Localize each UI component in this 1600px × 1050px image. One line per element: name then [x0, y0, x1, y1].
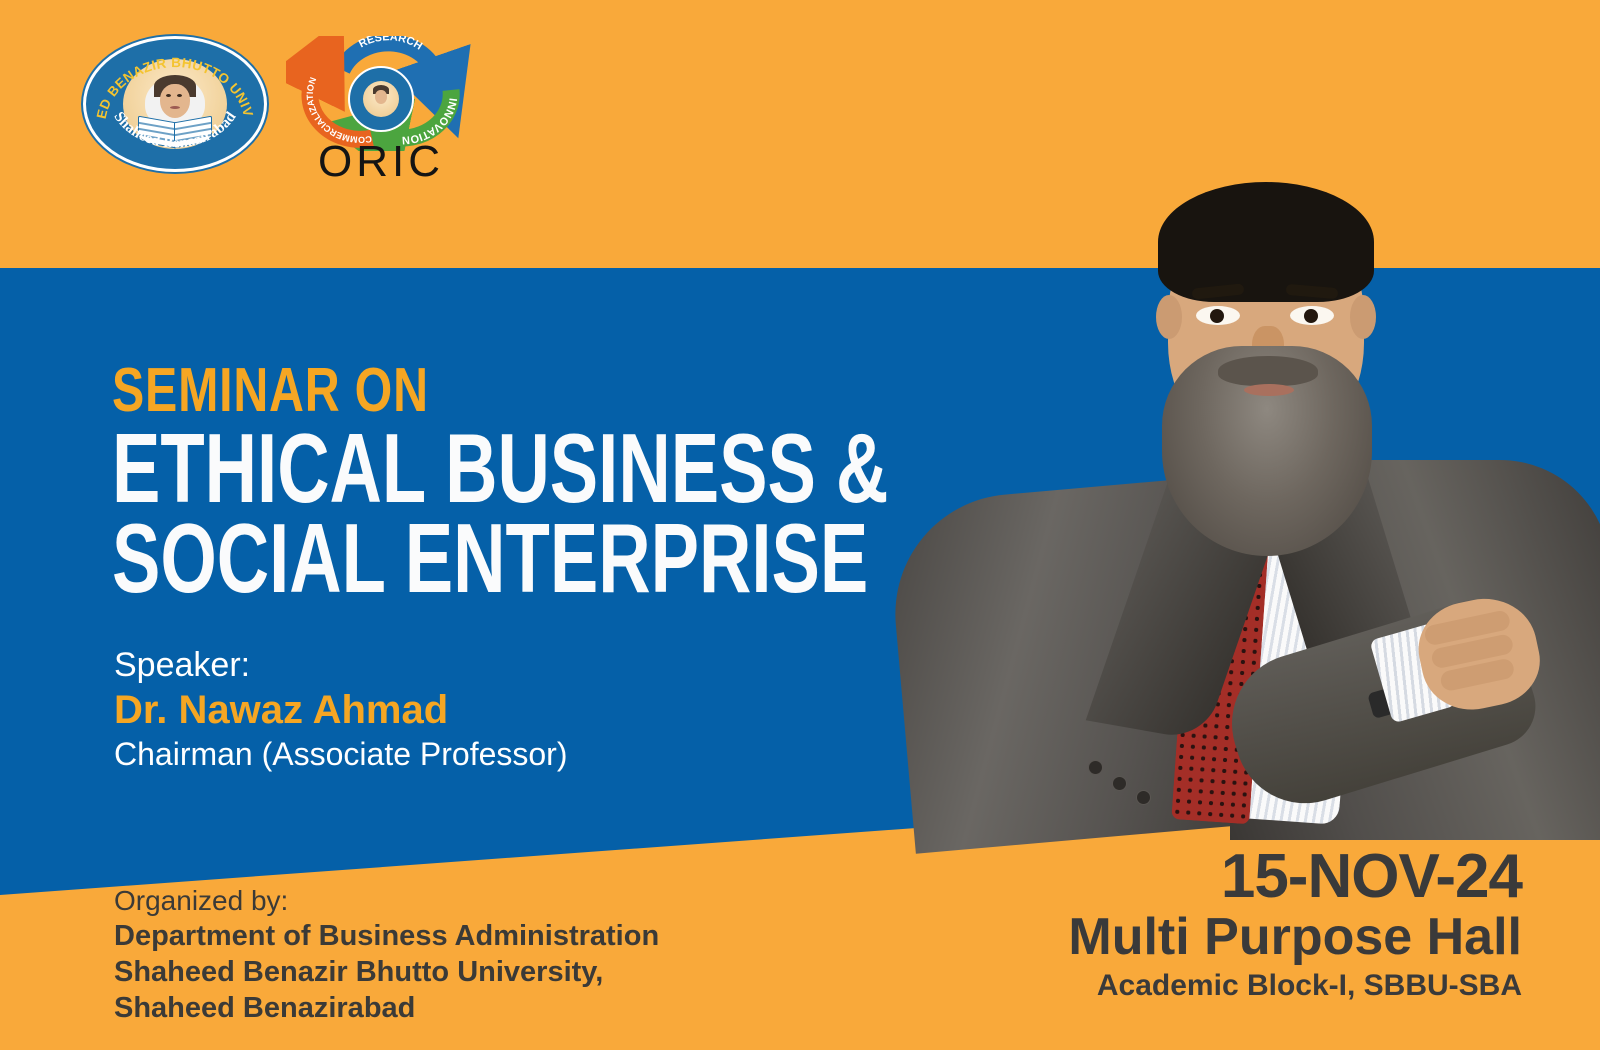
seminar-title-line-1: ETHICAL BUSINESS &: [112, 423, 888, 513]
speaker-label: Speaker:: [114, 645, 567, 685]
seminar-title-line-2: SOCIAL ENTERPRISE: [112, 513, 888, 603]
organizer-line-3: Shaheed Benazirabad: [114, 991, 659, 1027]
oric-logo: RESEARCH INNOVATION COMMERCIALIZATION: [286, 36, 476, 181]
speaker-name: Dr. Nawaz Ahmad: [114, 687, 567, 734]
seal-arc-bottom-text: Shaheed Benazirabad: [110, 109, 239, 152]
event-date: 15-NOV-24: [1068, 845, 1522, 908]
oric-wordmark: ORIC: [286, 140, 476, 184]
organizer-label: Organized by:: [114, 884, 659, 919]
seminar-kicker: SEMINAR ON: [112, 362, 930, 419]
event-venue: Multi Purpose Hall: [1068, 910, 1522, 965]
speaker-block: Speaker: Dr. Nawaz Ahmad Chairman (Assoc…: [114, 645, 567, 774]
university-seal-icon: SHAHEED BENAZIR BHUTTO UNIVERSITY Shahee…: [75, 36, 260, 166]
oric-inner-seal-icon: [348, 66, 414, 132]
event-details-block: 15-NOV-24 Multi Purpose Hall Academic Bl…: [1068, 845, 1522, 1002]
svg-text:Shaheed Benazirabad: Shaheed Benazirabad: [110, 109, 239, 152]
organizer-block: Organized by: Department of Business Adm…: [114, 884, 659, 1027]
event-venue-detail: Academic Block-I, SBBU-SBA: [1068, 969, 1522, 1002]
organizer-line-1: Department of Business Administration: [114, 919, 659, 955]
logo-row: SHAHEED BENAZIR BHUTTO UNIVERSITY Shahee…: [75, 36, 476, 181]
organizer-line-2: Shaheed Benazir Bhutto University,: [114, 955, 659, 991]
seminar-poster: SHAHEED BENAZIR BHUTTO UNIVERSITY Shahee…: [0, 0, 1600, 1050]
headline-block: SEMINAR ON ETHICAL BUSINESS & SOCIAL ENT…: [112, 362, 1161, 603]
speaker-role: Chairman (Associate Professor): [114, 736, 567, 774]
